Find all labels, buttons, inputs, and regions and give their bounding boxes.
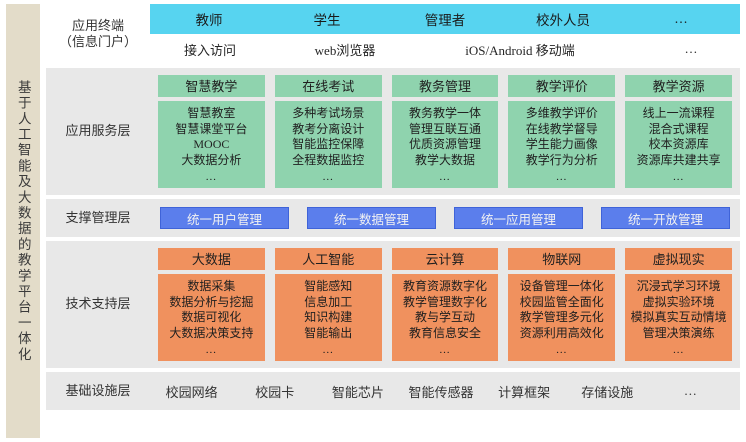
card-body: 沉浸式学习环境 虚拟实验环境 模拟真实互动情境 管理决策演练 … (625, 274, 732, 361)
card-body: 线上一流课程 混合式课程 校本资源库 资源库共建共享 … (625, 101, 732, 188)
terminal-layer-label-line2: （信息门户） (59, 34, 137, 50)
card-title: 物联网 (508, 248, 615, 270)
card-body: 多维教学评价 在线教学督导 学生能力画像 教学行为分析 … (508, 101, 615, 188)
card-ellipsis: … (673, 343, 685, 358)
card-body: 设备管理一体化 校园监管全面化 教学管理多元化 资源利用高效化 … (508, 274, 615, 361)
card-title: 人工智能 (275, 248, 382, 270)
terminal-access-web: web浏览器 (270, 40, 420, 59)
terminal-layer-label-line1: 应用终端 (59, 18, 137, 34)
card-item: 设备管理一体化 (520, 279, 604, 295)
card-body: 智慧教室 智慧课堂平台 MOOC 大数据分析 … (158, 101, 265, 188)
technology-card-virtual-reality[interactable]: 虚拟现实 沉浸式学习环境 虚拟实验环境 模拟真实互动情境 管理决策演练 … (625, 248, 732, 361)
card-body: 多种考试场景 教考分离设计 智能监控保障 全程数据监控 … (275, 101, 382, 188)
card-body: 数据采集 数据分析与挖掘 数据可视化 大数据决策支持 … (158, 274, 265, 361)
card-item: 大数据分析 (181, 153, 241, 169)
infrastructure-item-storage-facility: 存储设施 (566, 382, 649, 401)
terminal-access-entry: 接入访问 (150, 40, 270, 59)
infrastructure-layer-label: 基础设施层 (46, 372, 150, 410)
technology-layer-band: 技术支持层 大数据 数据采集 数据分析与挖掘 数据可视化 大数据决策支持 … (46, 241, 740, 368)
card-item: 优质资源管理 (409, 137, 481, 153)
card-item: 教与学互动 (415, 310, 475, 326)
support-pill-unified-user[interactable]: 统一用户管理 (160, 207, 289, 229)
support-layer-label: 支撑管理层 (46, 199, 150, 237)
card-item: 教学大数据 (415, 153, 475, 169)
card-ellipsis: … (673, 170, 685, 185)
infrastructure-item-smart-sensor: 智能传感器 (399, 382, 482, 401)
terminal-role-teacher: 教师 (150, 9, 268, 29)
card-item: 多维教学评价 (526, 106, 598, 122)
card-item: 大数据决策支持 (169, 326, 253, 342)
infrastructure-layer-body: 校园网络 校园卡 智能芯片 智能传感器 计算框架 存储设施 … (150, 372, 740, 410)
card-item: 智能监控保障 (292, 137, 364, 153)
card-item: 教学管理多元化 (520, 310, 604, 326)
card-item: 知识构建 (304, 310, 352, 326)
card-item: 教考分离设计 (292, 122, 364, 138)
card-item: 学生能力画像 (526, 137, 598, 153)
terminal-role-administrator: 管理者 (386, 9, 504, 29)
layer-stack: 应用终端 （信息门户） 教师 学生 管理者 校外人员 … 接入访问 web浏览器… (46, 4, 740, 438)
infrastructure-item-more: … (649, 383, 732, 399)
vertical-title-bar: 基于人工智能及大数据的教学平台一体化 (6, 4, 40, 438)
card-item: 管理决策演练 (643, 326, 715, 342)
technology-card-artificial-intelligence[interactable]: 人工智能 智能感知 信息加工 知识构建 智能输出 … (275, 248, 382, 361)
card-ellipsis: … (556, 343, 568, 358)
card-title: 虚拟现实 (625, 248, 732, 270)
terminal-role-off-campus: 校外人员 (504, 9, 622, 29)
card-ellipsis: … (322, 170, 334, 185)
card-item: 多种考试场景 (292, 106, 364, 122)
application-card-teaching-evaluation[interactable]: 教学评价 多维教学评价 在线教学督导 学生能力画像 教学行为分析 … (508, 75, 615, 188)
terminal-layer-band: 应用终端 （信息门户） 教师 学生 管理者 校外人员 … 接入访问 web浏览器… (46, 4, 740, 64)
application-card-online-exam[interactable]: 在线考试 多种考试场景 教考分离设计 智能监控保障 全程数据监控 … (275, 75, 382, 188)
card-title: 在线考试 (275, 75, 382, 97)
card-item: 数据采集 (187, 279, 235, 295)
vertical-title-text: 基于人工智能及大数据的教学平台一体化 (16, 80, 30, 363)
terminal-layer-body: 教师 学生 管理者 校外人员 … 接入访问 web浏览器 iOS/Android… (150, 4, 740, 64)
application-card-list: 智慧教学 智慧教室 智慧课堂平台 MOOC 大数据分析 … 在线考试 多种考试场… (150, 68, 740, 195)
card-title: 云计算 (392, 248, 499, 270)
technology-card-big-data[interactable]: 大数据 数据采集 数据分析与挖掘 数据可视化 大数据决策支持 … (158, 248, 265, 361)
infrastructure-layer-band: 基础设施层 校园网络 校园卡 智能芯片 智能传感器 计算框架 存储设施 … (46, 372, 740, 410)
support-pill-unified-data[interactable]: 统一数据管理 (307, 207, 436, 229)
application-card-teaching-resources[interactable]: 教学资源 线上一流课程 混合式课程 校本资源库 资源库共建共享 … (625, 75, 732, 188)
architecture-diagram: 基于人工智能及大数据的教学平台一体化 应用终端 （信息门户） 教师 学生 管理者… (0, 0, 746, 442)
card-item: 全程数据监控 (292, 153, 364, 169)
card-title: 教务管理 (392, 75, 499, 97)
card-item: 在线教学督导 (526, 122, 598, 138)
card-ellipsis: … (439, 343, 451, 358)
card-item: 模拟真实互动情境 (631, 310, 727, 326)
card-item: 资源库共建共享 (637, 153, 721, 169)
technology-layer-label: 技术支持层 (46, 241, 150, 368)
support-layer-body: 统一用户管理 统一数据管理 统一应用管理 统一开放管理 (150, 199, 740, 237)
card-item: 资源利用高效化 (520, 326, 604, 342)
support-layer-band: 支撑管理层 统一用户管理 统一数据管理 统一应用管理 统一开放管理 (46, 199, 740, 237)
card-item: 线上一流课程 (643, 106, 715, 122)
infrastructure-item-campus-card: 校园卡 (233, 382, 316, 401)
application-layer-body: 智慧教学 智慧教室 智慧课堂平台 MOOC 大数据分析 … 在线考试 多种考试场… (150, 68, 740, 195)
card-item: 信息加工 (304, 295, 352, 311)
technology-layer-body: 大数据 数据采集 数据分析与挖掘 数据可视化 大数据决策支持 … 人工智能 智能… (150, 241, 740, 368)
card-item: 智慧教室 (187, 106, 235, 122)
card-body: 智能感知 信息加工 知识构建 智能输出 … (275, 274, 382, 361)
card-title: 智慧教学 (158, 75, 265, 97)
technology-card-cloud-computing[interactable]: 云计算 教育资源数字化 教学管理数字化 教与学互动 教育信息安全 … (392, 248, 499, 361)
application-layer-band: 应用服务层 智慧教学 智慧教室 智慧课堂平台 MOOC 大数据分析 … (46, 68, 740, 195)
application-card-smart-teaching[interactable]: 智慧教学 智慧教室 智慧课堂平台 MOOC 大数据分析 … (158, 75, 265, 188)
card-item: 虚拟实验环境 (643, 295, 715, 311)
support-pill-unified-open[interactable]: 统一开放管理 (601, 207, 730, 229)
terminal-role-student: 学生 (268, 9, 386, 29)
card-item: 教务教学一体 (409, 106, 481, 122)
application-card-academic-affairs[interactable]: 教务管理 教务教学一体 管理互联互通 优质资源管理 教学大数据 … (392, 75, 499, 188)
terminal-role-more: … (622, 11, 740, 27)
technology-card-list: 大数据 数据采集 数据分析与挖掘 数据可视化 大数据决策支持 … 人工智能 智能… (150, 241, 740, 368)
card-ellipsis: … (205, 343, 217, 358)
terminal-access-more: … (620, 41, 740, 57)
card-title: 教学资源 (625, 75, 732, 97)
card-item: 混合式课程 (649, 122, 709, 138)
card-item: 管理互联互通 (409, 122, 481, 138)
terminal-roles-row: 教师 学生 管理者 校外人员 … (150, 4, 740, 34)
terminal-access-mobile: iOS/Android 移动端 (420, 40, 620, 59)
card-item: MOOC (193, 137, 229, 153)
infrastructure-item-campus-network: 校园网络 (150, 382, 233, 401)
terminal-layer-label: 应用终端 （信息门户） (46, 4, 150, 64)
card-ellipsis: … (556, 170, 568, 185)
card-item: 智慧课堂平台 (175, 122, 247, 138)
card-item: 数据可视化 (181, 310, 241, 326)
card-item: 沉浸式学习环境 (637, 279, 721, 295)
card-item: 智能输出 (304, 326, 352, 342)
card-body: 教务教学一体 管理互联互通 优质资源管理 教学大数据 … (392, 101, 499, 188)
support-pill-unified-application[interactable]: 统一应用管理 (454, 207, 583, 229)
card-item: 教学行为分析 (526, 153, 598, 169)
card-item: 教学管理数字化 (403, 295, 487, 311)
card-item: 教育信息安全 (409, 326, 481, 342)
card-item: 智能感知 (304, 279, 352, 295)
card-ellipsis: … (322, 343, 334, 358)
support-pill-list: 统一用户管理 统一数据管理 统一应用管理 统一开放管理 (150, 199, 740, 237)
card-item: 数据分析与挖掘 (169, 295, 253, 311)
card-item: 校园监管全面化 (520, 295, 604, 311)
card-item: 教育资源数字化 (403, 279, 487, 295)
terminal-access-row: 接入访问 web浏览器 iOS/Android 移动端 … (150, 34, 740, 64)
technology-card-internet-of-things[interactable]: 物联网 设备管理一体化 校园监管全面化 教学管理多元化 资源利用高效化 … (508, 248, 615, 361)
infrastructure-item-computing-framework: 计算框架 (483, 382, 566, 401)
application-layer-label: 应用服务层 (46, 68, 150, 195)
card-ellipsis: … (205, 170, 217, 185)
card-title: 教学评价 (508, 75, 615, 97)
card-title: 大数据 (158, 248, 265, 270)
card-item: 校本资源库 (649, 137, 709, 153)
infrastructure-item-smart-chip: 智能芯片 (316, 382, 399, 401)
card-ellipsis: … (439, 170, 451, 185)
card-body: 教育资源数字化 教学管理数字化 教与学互动 教育信息安全 … (392, 274, 499, 361)
